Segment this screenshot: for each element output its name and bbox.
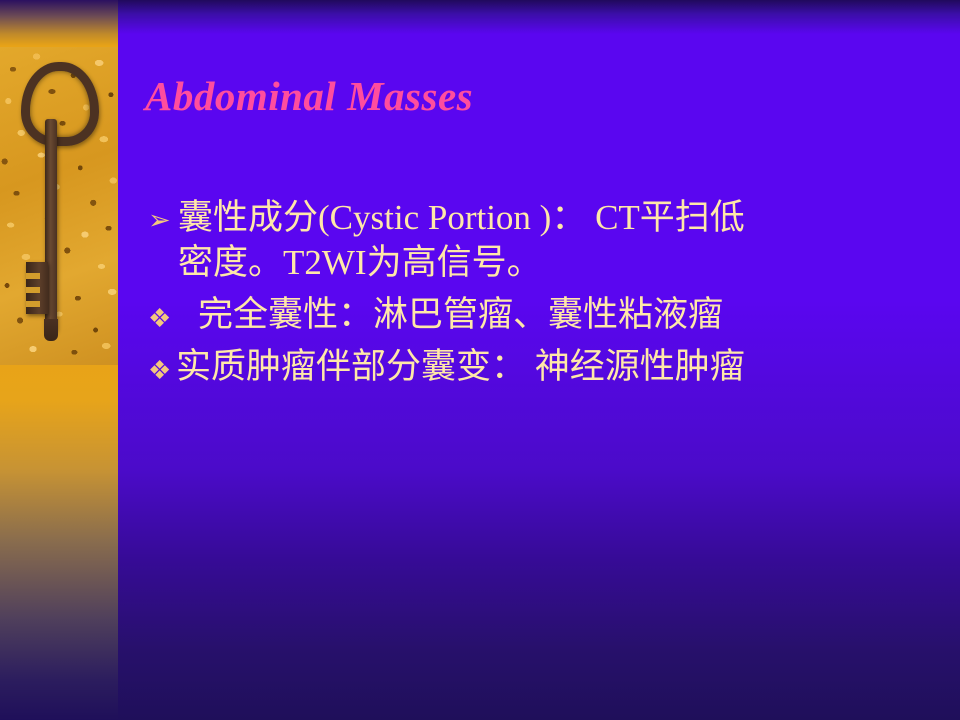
bullet-item-text: 实质肿瘤伴部分囊变： 神经源性肿瘤 xyxy=(176,346,938,388)
diamond-bullet-icon: ❖ xyxy=(148,346,176,384)
bullet-item-text: 囊性成分(Cystic Portion )： CT平扫低 密度。T2WI为高信号… xyxy=(178,196,938,286)
key-notch xyxy=(26,273,40,279)
key-notch xyxy=(26,287,40,293)
bullet-line: 囊性成分(Cystic Portion )： CT平扫低 xyxy=(178,198,745,237)
slide-content-area: Abdominal Masses ➢ 囊性成分(Cystic Portion )… xyxy=(118,0,960,720)
bullet-item: ➢ 囊性成分(Cystic Portion )： CT平扫低 密度。T2WI为高… xyxy=(148,196,938,286)
diamond-bullet-icon: ❖ xyxy=(148,294,198,332)
antique-key-photo xyxy=(0,47,118,365)
slide-title: Abdominal Masses xyxy=(145,72,473,120)
presentation-slide: Abdominal Masses ➢ 囊性成分(Cystic Portion )… xyxy=(0,0,960,720)
key-tip-shape xyxy=(44,319,58,341)
key-notch xyxy=(26,301,40,307)
slide-bullet-list: ➢ 囊性成分(Cystic Portion )： CT平扫低 密度。T2WI为高… xyxy=(148,196,938,388)
bullet-item: ❖ 完全囊性：淋巴管瘤、囊性粘液瘤 xyxy=(148,294,938,336)
key-bow-shape xyxy=(21,62,99,146)
bullet-item: ❖ 实质肿瘤伴部分囊变： 神经源性肿瘤 xyxy=(148,346,938,388)
bullet-item-text: 完全囊性：淋巴管瘤、囊性粘液瘤 xyxy=(198,294,938,336)
arrow-bullet-icon: ➢ xyxy=(148,196,178,234)
bullet-line: 密度。T2WI为高信号。 xyxy=(178,243,542,282)
slide-sidebar-band xyxy=(0,0,118,720)
